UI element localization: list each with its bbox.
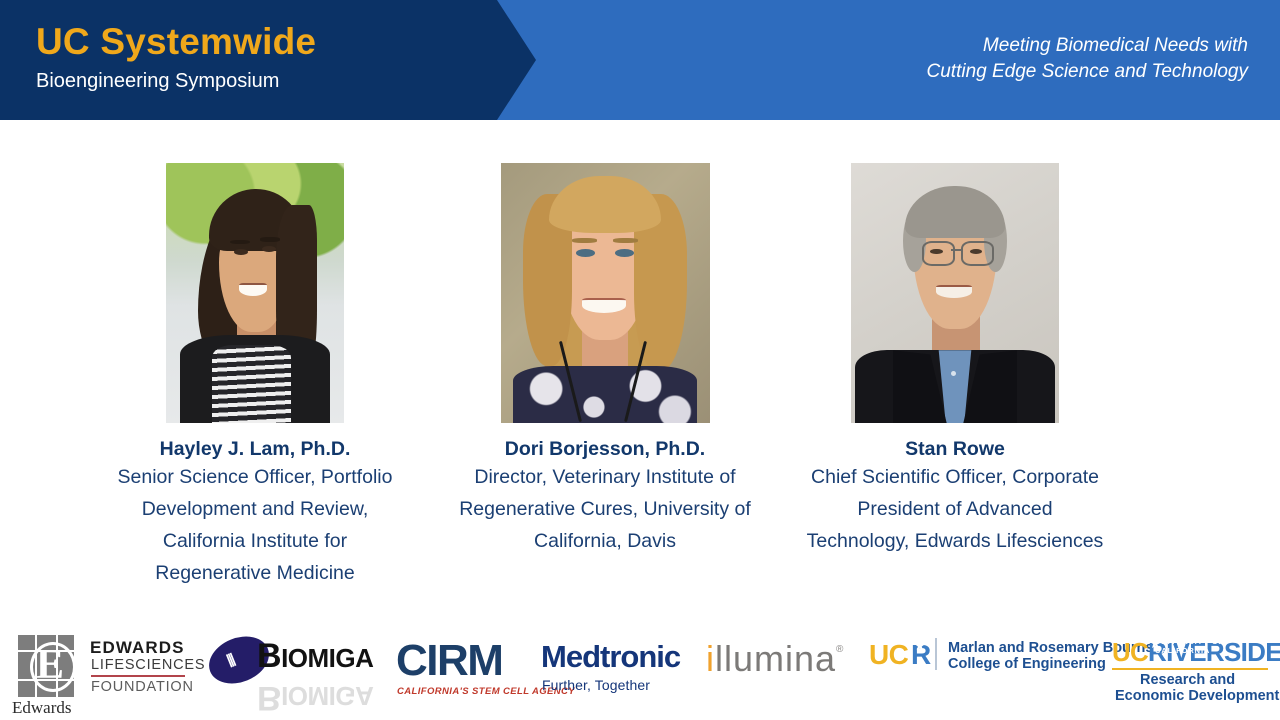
- ucr-research-uc: UC: [1112, 638, 1148, 666]
- speaker-role-2: Director, Veterinary Institute of Regene…: [455, 462, 755, 558]
- sponsor-logo-bar: E Edwards EDWARDS LIFESCIENCES FOUNDATIO…: [0, 630, 1280, 720]
- speaker-name-1: Hayley J. Lam, Ph.D.: [105, 437, 405, 461]
- edwards-wordmark: Edwards: [12, 698, 71, 718]
- illumina-rest: llumina: [715, 638, 836, 679]
- header-tagline: Meeting Biomedical Needs with Cutting Ed…: [728, 33, 1248, 84]
- edwards-logo-icon: E: [18, 635, 74, 697]
- biomiga-wordmark: BIOMIGA: [257, 636, 373, 678]
- edwards-foundation-line-3: FOUNDATION: [91, 679, 194, 695]
- slide-header: UC Systemwide Bioengineering Symposium M…: [0, 0, 1280, 120]
- tagline-line-1: Meeting Biomedical Needs with: [728, 33, 1248, 59]
- page-title: UC Systemwide: [36, 23, 316, 62]
- ucr-sunburst-icon: ★: [914, 639, 927, 652]
- ucr-research-divider: [1112, 668, 1268, 670]
- ucr-engineering-line-2: College of Engineering: [948, 656, 1106, 672]
- medtronic-wordmark: Medtronic: [541, 640, 680, 674]
- speaker-card-2: Dori Borjesson, Ph.D. Director, Veterina…: [455, 120, 755, 558]
- presentation-slide: UC Systemwide Bioengineering Symposium M…: [0, 0, 1280, 720]
- biomiga-initial: B: [257, 637, 281, 675]
- medtronic-tagline: Further, Together: [542, 677, 650, 693]
- speaker-grid: Hayley J. Lam, Ph.D. Senior Science Offi…: [0, 120, 1280, 630]
- speaker-card-3: Stan Rowe Chief Scientific Officer, Corp…: [805, 120, 1105, 558]
- ucr-research-line-1: Research and: [1140, 672, 1235, 688]
- speaker-name-2: Dori Borjesson, Ph.D.: [455, 437, 755, 461]
- ucr-research-line-2: Economic Development: [1115, 688, 1279, 704]
- ucr-engineering-divider: [935, 638, 937, 670]
- edwards-foundation-line-2: LIFESCIENCES: [91, 657, 205, 673]
- speaker-photo-dori-borjesson: [501, 163, 710, 423]
- speaker-name-3: Stan Rowe: [805, 437, 1105, 461]
- speaker-role-1: Senior Science Officer, Portfolio Develo…: [105, 462, 405, 590]
- speaker-photo-hayley-lam: [166, 163, 344, 423]
- speaker-photo-stan-rowe: [851, 163, 1059, 423]
- page-subtitle: Bioengineering Symposium: [36, 70, 279, 93]
- illumina-registered-mark: ®: [836, 644, 843, 655]
- ucr-engineering-uc: UC: [869, 640, 908, 670]
- speaker-card-1: Hayley J. Lam, Ph.D. Senior Science Offi…: [105, 120, 405, 590]
- edwards-foundation-divider: [91, 675, 185, 677]
- illumina-initial: i: [706, 638, 715, 679]
- edwards-foundation-line-1: EDWARDS: [90, 638, 185, 658]
- illumina-wordmark: illumina: [706, 638, 836, 680]
- tagline-line-2: Cutting Edge Science and Technology: [728, 59, 1248, 85]
- biomiga-reflection: BIOMIGA: [257, 676, 373, 718]
- cirm-wordmark: CIRM: [396, 638, 502, 684]
- ucr-research-eyebrow: UNIVERSITY OF CALIFORNIA: [1155, 637, 1280, 655]
- biomiga-rest: IOMIGA: [281, 643, 373, 673]
- speaker-role-3: Chief Scientific Officer, Corporate Pres…: [805, 462, 1105, 558]
